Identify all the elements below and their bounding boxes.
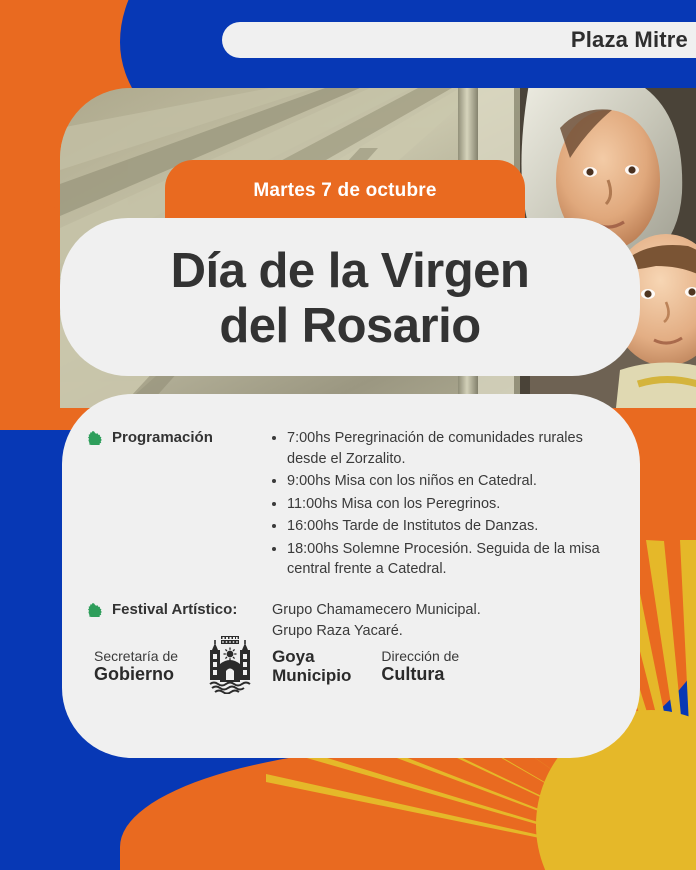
logo-right-small: Dirección de xyxy=(381,648,459,665)
logo-direccion-cultura: Dirección de Cultura xyxy=(381,648,459,686)
program-label: Programación xyxy=(112,429,213,446)
logo-secretaria-gobierno: Secretaría de Gobierno xyxy=(94,648,178,686)
venue-pill: Plaza Mitre xyxy=(222,22,696,58)
title-line-2: del Rosario xyxy=(219,299,480,354)
program-section: Programación 7:00hs Peregrinación de com… xyxy=(88,428,610,582)
green-gear-bullet-icon xyxy=(88,431,102,450)
program-items: 7:00hs Peregrinación de comunidades rura… xyxy=(272,428,610,582)
list-item: Grupo Chamamecero Municipal. xyxy=(272,600,610,621)
goya-coat-of-arms-icon xyxy=(204,634,256,699)
logo-goya-line2: Municipio xyxy=(272,667,351,686)
list-item: 9:00hs Misa con los niños en Catedral. xyxy=(272,471,610,492)
logo-right-big: Cultura xyxy=(381,664,459,685)
footer-logos: Secretaría de Gobierno xyxy=(62,634,640,699)
list-item: 11:00hs Misa con los Peregrinos. xyxy=(272,494,610,515)
venue-label: Plaza Mitre xyxy=(571,27,688,53)
list-item: 18:00hs Solemne Procesión. Seguida de la… xyxy=(272,539,610,580)
list-item: 7:00hs Peregrinación de comunidades rura… xyxy=(272,428,610,469)
green-gear-bullet-icon xyxy=(88,603,102,622)
date-label: Martes 7 de octubre xyxy=(253,180,436,202)
program-label-group: Programación xyxy=(88,428,272,450)
title-line-1: Día de la Virgen xyxy=(171,244,530,299)
list-item: 16:00hs Tarde de Institutos de Danzas. xyxy=(272,516,610,537)
title-card: Día de la Virgen del Rosario xyxy=(60,218,640,376)
poster-canvas: Plaza Mitre Martes 7 de octubre Día de l… xyxy=(0,0,696,870)
festival-label: Festival Artístico: xyxy=(112,601,237,618)
program-list: 7:00hs Peregrinación de comunidades rura… xyxy=(272,428,610,580)
festival-label-group: Festival Artístico: xyxy=(88,600,272,622)
date-banner: Martes 7 de octubre xyxy=(165,160,525,222)
content-card: Programación 7:00hs Peregrinación de com… xyxy=(62,394,640,758)
logo-goya-line1: Goya xyxy=(272,648,351,667)
logo-left-big: Gobierno xyxy=(94,664,178,685)
logo-goya-municipio: Goya Municipio xyxy=(272,648,351,685)
logo-left-small: Secretaría de xyxy=(94,648,178,665)
